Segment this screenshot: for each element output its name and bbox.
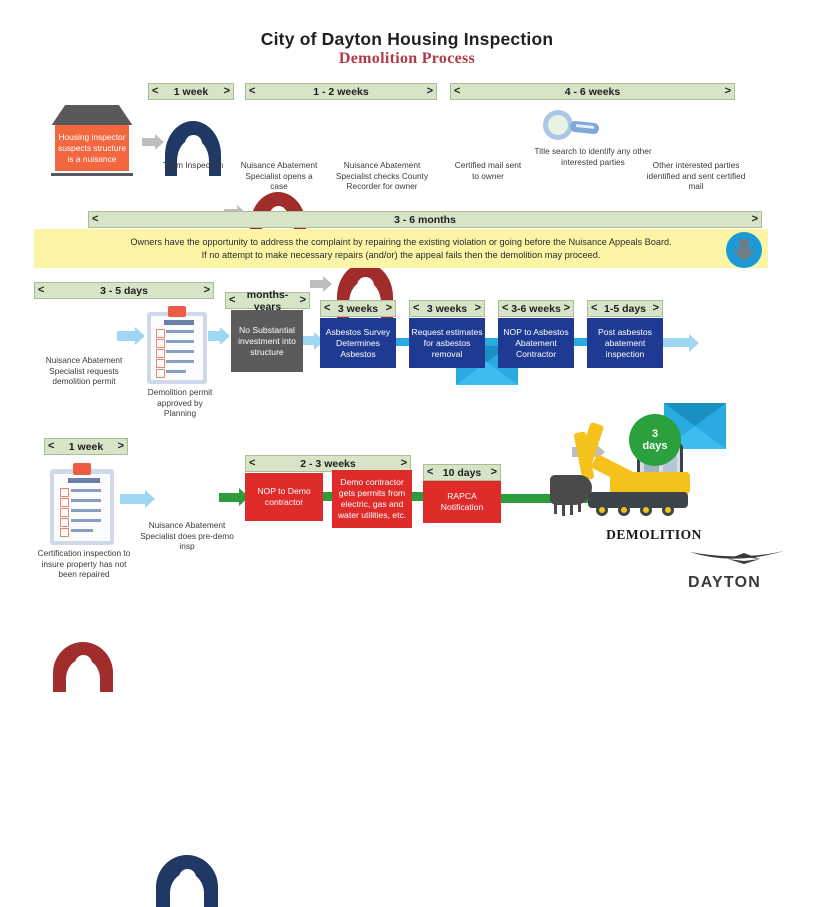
duration-bar-1-2weeks: < 1 - 2 weeks > [245, 83, 437, 100]
connector [396, 338, 409, 346]
duration-bar-3-6weeks: < 3-6 weeks > [498, 300, 574, 317]
duration-bar-1week-row3: < 1 week > [44, 438, 128, 455]
magnifier-icon [543, 110, 601, 144]
duration-label: 1 week [54, 441, 117, 453]
house-icon: Housing inspector suspects structure is … [44, 105, 140, 177]
right-arrow-glyph: > [224, 86, 230, 97]
duration-bar-10days: < 10 days > [423, 464, 501, 481]
duration-label: 1 week [158, 86, 223, 98]
banner-line-2: If no attempt to make necessary repairs … [130, 249, 671, 262]
step-label-permit-approved: Demolition permit approved by Planning [140, 387, 220, 419]
duration-bar-3weeks-b: < 3 weeks > [409, 300, 485, 317]
step-label-other-parties-mail: Other interested parties identified and … [645, 160, 747, 192]
no-investment-box: No Substantial investment into structure [231, 310, 303, 372]
right-arrow-glyph: > [300, 295, 306, 306]
duration-label: 3 weeks [330, 303, 385, 315]
right-arrow-glyph: > [653, 303, 659, 314]
step-label-certification-inspection: Certification inspection to insure prope… [33, 548, 135, 580]
right-arrow-glyph: > [427, 86, 433, 97]
duration-label: 10 days [433, 467, 490, 479]
step-label-title-search: Title search to identify any other inter… [528, 146, 658, 167]
navy-box-request-estimates: Request estimates for asbestos removal [409, 318, 485, 368]
duration-bar-1-5days: < 1-5 days > [587, 300, 663, 317]
flow-arrow [142, 134, 164, 150]
person-icon [53, 642, 113, 692]
right-arrow-glyph: > [386, 303, 392, 314]
demolition-label: DEMOLITION [594, 527, 714, 543]
duration-label: 3 weeks [419, 303, 474, 315]
duration-bar-1week: < 1 week > [148, 83, 234, 100]
step-label-pre-demo-insp: Nuisance Abatement Specialist does pre-d… [140, 520, 234, 552]
step-label-certified-mail-owner: Certified mail sent to owner [452, 160, 524, 181]
step-label-specialist-opens-case: Nuisance Abatement Specialist opens a ca… [236, 160, 322, 192]
right-arrow-glyph: > [204, 285, 210, 296]
days-unit: days [642, 440, 667, 452]
clipboard-icon [147, 306, 207, 384]
duration-bar-months-years: < months-years > [225, 292, 310, 309]
duration-label: 2 - 3 weeks [255, 458, 400, 470]
house-label: Housing inspector suspects structure is … [55, 125, 129, 171]
connector [485, 338, 498, 346]
flow-arrow-end [663, 334, 699, 352]
appeals-banner: Owners have the opportunity to address t… [34, 229, 768, 268]
red-box-rapca: RAPCA Notification [423, 481, 501, 523]
connector [323, 492, 332, 501]
right-arrow-glyph: > [118, 441, 124, 452]
duration-label: 3 - 5 days [44, 285, 203, 297]
right-arrow-glyph: > [564, 303, 570, 314]
right-arrow-glyph: > [475, 303, 481, 314]
connector [412, 492, 423, 501]
right-arrow-glyph: > [401, 458, 407, 469]
flow-arrow [117, 327, 145, 345]
flow-arrow [310, 276, 332, 292]
person-icon [156, 855, 218, 907]
right-arrow-glyph: > [725, 86, 731, 97]
dayton-wing-icon [688, 548, 786, 568]
duration-bar-3-5days: < 3 - 5 days > [34, 282, 214, 299]
navy-box-asbestos-survey: Asbestos Survey Determines Asbestos [320, 318, 396, 368]
duration-label: 1 - 2 weeks [255, 86, 426, 98]
step-label-requests-demo-permit: Nuisance Abatement Specialist requests d… [34, 355, 134, 387]
duration-label: months-years [235, 289, 299, 313]
red-box-nop-demo: NOP to Demo contractor [245, 473, 323, 521]
red-box-demo-permits: Demo contractor gets permits from electr… [332, 470, 412, 528]
days-number: 3 [652, 428, 658, 440]
duration-bar-3-6months: < 3 - 6 months > [88, 211, 762, 228]
duration-label: 1-5 days [597, 303, 652, 315]
connector [574, 338, 587, 346]
navy-box-post-inspection: Post asbestos abatement inspection [587, 318, 663, 368]
dayton-wordmark: DAYTON [688, 574, 786, 592]
navy-box-nop-abatement: NOP to Asbestos Abatement Contractor [498, 318, 574, 368]
page-subtitle: Demolition Process [0, 50, 814, 68]
flow-arrow [208, 327, 230, 345]
duration-label: 3 - 6 months [98, 214, 751, 226]
days-badge: 3 days [629, 414, 681, 466]
down-arrow-circle-icon [726, 232, 762, 268]
duration-bar-3weeks-a: < 3 weeks > [320, 300, 396, 317]
flow-arrow [120, 489, 156, 509]
step-label-team-inspection: Team Inspection [152, 160, 234, 171]
duration-label: 3-6 weeks [508, 303, 563, 315]
clipboard-icon [50, 463, 114, 545]
duration-label: 4 - 6 weeks [460, 86, 724, 98]
right-arrow-glyph: > [491, 467, 497, 478]
duration-bar-4-6weeks: < 4 - 6 weeks > [450, 83, 735, 100]
step-label-specialist-checks-recorder: Nuisance Abatement Specialist checks Cou… [332, 160, 432, 192]
page-title: City of Dayton Housing Inspection [0, 29, 814, 50]
dayton-logo: DAYTON [688, 548, 786, 590]
banner-line-1: Owners have the opportunity to address t… [130, 236, 671, 249]
right-arrow-glyph: > [752, 214, 758, 225]
